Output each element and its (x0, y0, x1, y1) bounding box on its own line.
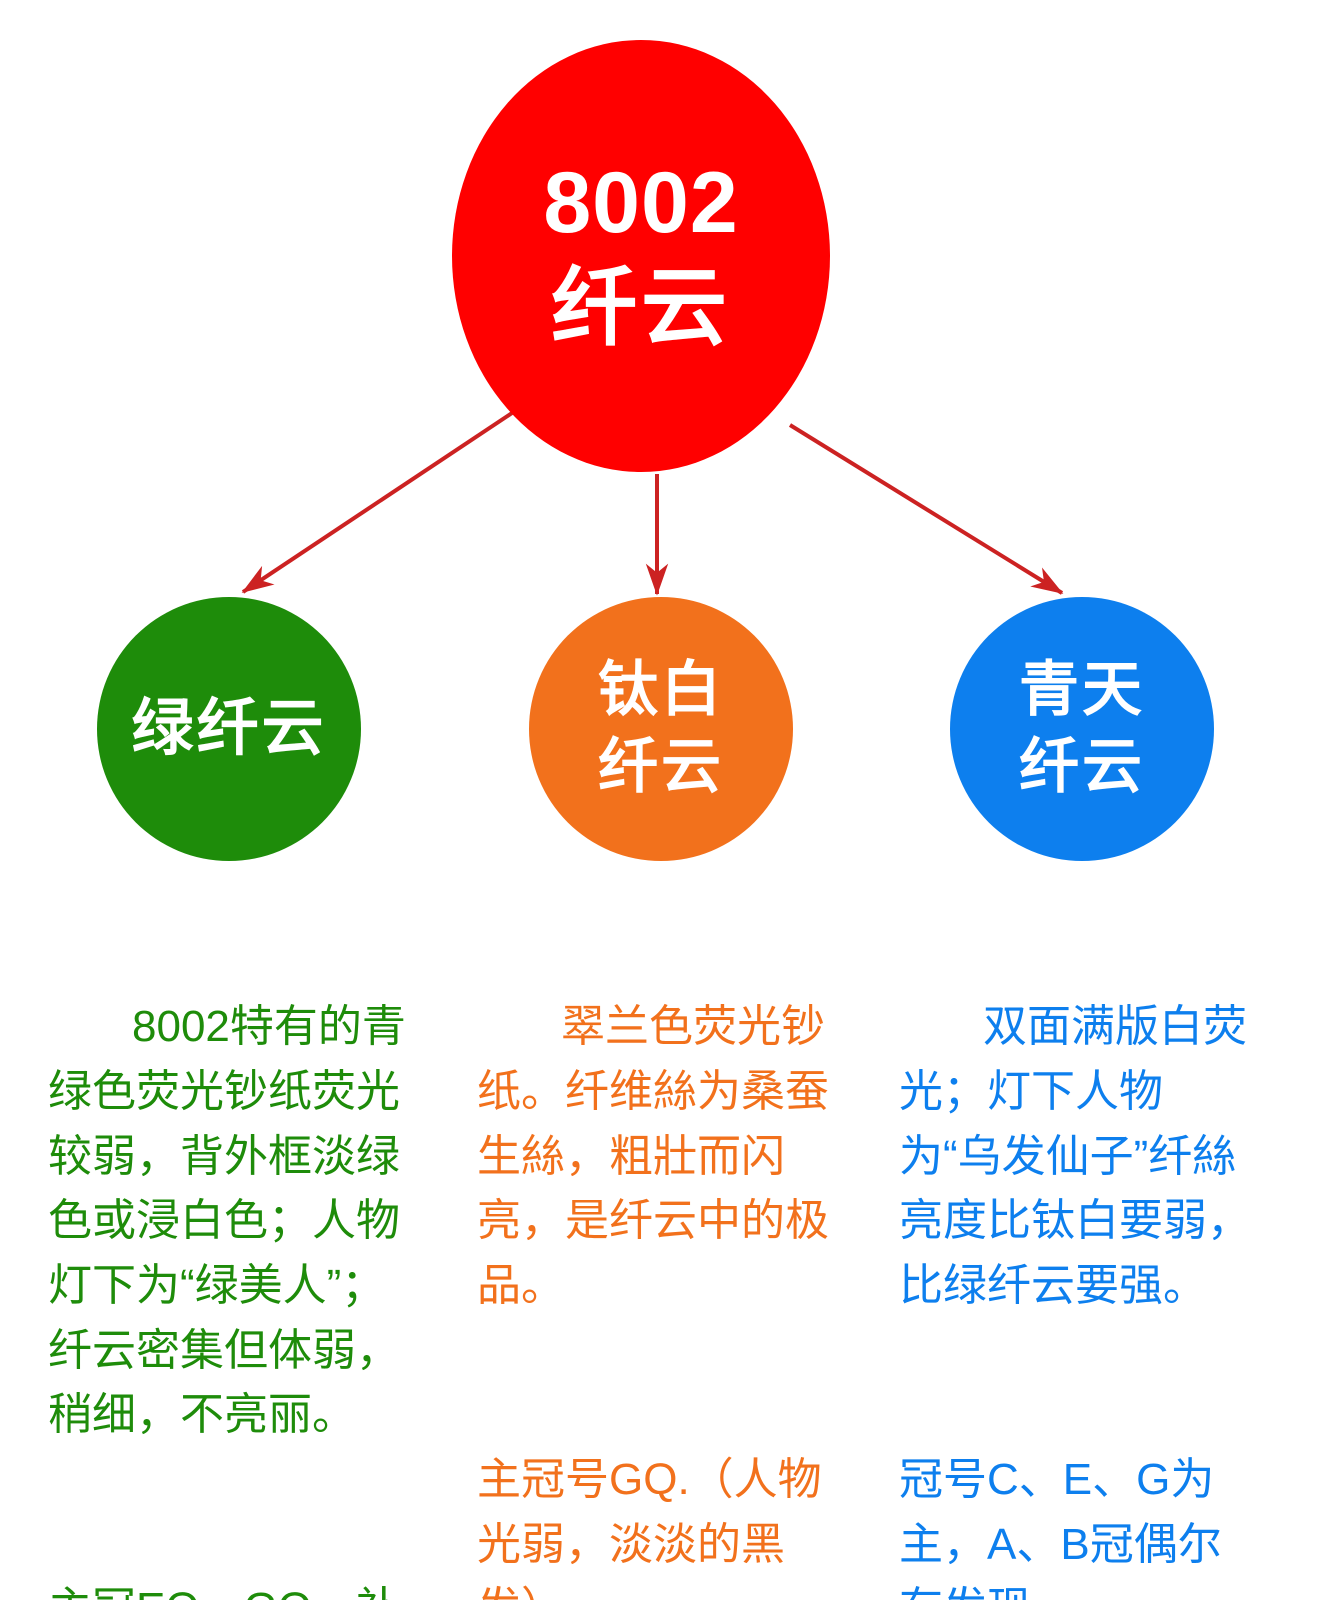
arrow-root-to-blue (790, 425, 1062, 593)
description-qingtian-paragraph-1: 双面满版白荧光；灯下人物为“乌发仙子”纤絲亮度比钛白要弱，比绿纤云要强。 (899, 995, 1265, 1318)
description-tibai-paragraph-2: 主冠号GQ.（人物光弱，淡淡的黑发） (477, 1448, 843, 1600)
mind-map-canvas: 8002 纤云 绿纤云 钛白 纤云 青天 纤云 8002特有的青绿色荧光钞纸荧光… (0, 0, 1331, 1600)
root-node-label-line-1: 8002 (543, 151, 738, 256)
description-tibai-xianyun: 翠兰色荧光钞纸。纤维絲为桑蚕生絲，粗壯而闪亮，是纤云中的极品。 主冠号GQ.（人… (477, 866, 843, 1600)
description-green-xianyun: 8002特有的青绿色荧光钞纸荧光较弱，背外框淡绿色或浸白色；人物灯下为“绿美人”… (48, 866, 414, 1600)
root-node-label-line-2: 纤云 (551, 256, 731, 361)
child-node-tibai-label-line-2: 纤云 (598, 729, 724, 806)
description-qingtian-xianyun: 双面满版白荧光；灯下人物为“乌发仙子”纤絲亮度比钛白要弱，比绿纤云要强。 冠号C… (899, 866, 1265, 1600)
child-node-qingtian-label-line-2: 纤云 (1019, 729, 1145, 806)
child-node-qingtian-label-line-1: 青天 (1019, 652, 1145, 729)
child-node-tibai-label-line-1: 钛白 (598, 652, 724, 729)
root-node-8002-xianyun[interactable]: 8002 纤云 (452, 40, 830, 472)
child-node-tibai-xianyun[interactable]: 钛白 纤云 (529, 597, 793, 861)
child-node-green-label-line-1: 绿纤云 (131, 689, 326, 768)
description-tibai-paragraph-1: 翠兰色荧光钞纸。纤维絲为桑蚕生絲，粗壯而闪亮，是纤云中的极品。 (477, 995, 843, 1318)
description-qingtian-paragraph-2: 冠号C、E、G为主，A、B冠偶尔有发现。 (899, 1448, 1265, 1600)
arrow-root-to-green (243, 413, 512, 592)
description-green-paragraph-2: 主冠EQ、GQ，补号JZ。 (48, 1577, 414, 1600)
child-node-qingtian-xianyun[interactable]: 青天 纤云 (950, 597, 1214, 861)
child-node-green-xianyun[interactable]: 绿纤云 (97, 597, 361, 861)
description-green-paragraph-1: 8002特有的青绿色荧光钞纸荧光较弱，背外框淡绿色或浸白色；人物灯下为“绿美人”… (48, 995, 414, 1448)
